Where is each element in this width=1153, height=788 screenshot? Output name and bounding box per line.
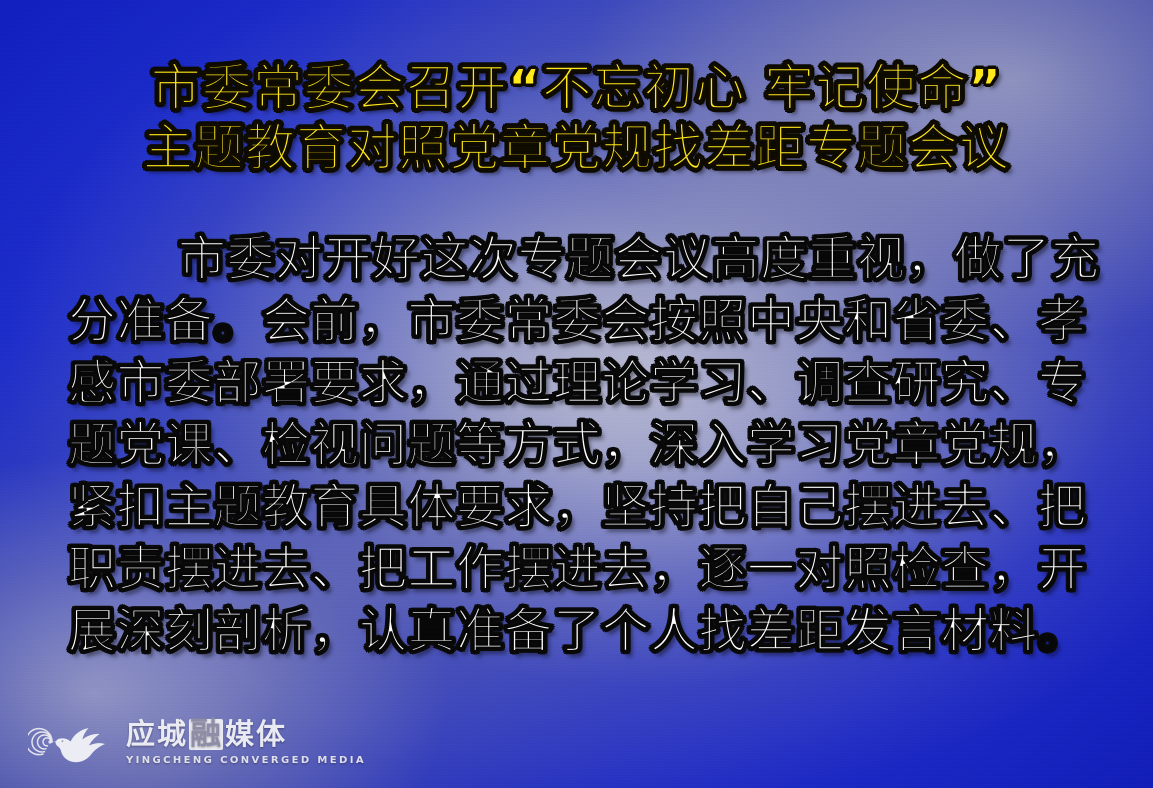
logo-chinese-name: 应 城 融 媒 体: [126, 719, 366, 750]
logo-char-ying: 应: [126, 720, 156, 749]
body-paragraph: 市委对开好这次专题会议高度重视，做了充 分准备。会前，市委常委会按照中央和省委、…: [68, 228, 1088, 662]
logo-char-cheng: 城: [157, 720, 187, 749]
body-line: 感市委部署要求，通过理论学习、调查研究、专: [68, 352, 1088, 414]
station-logo: 应 城 融 媒 体 YINGCHENG CONVERGED MEDIA: [28, 714, 366, 770]
body-line: 紧扣主题教育具体要求，坚持把自己摆进去、把: [68, 476, 1088, 538]
logo-char-rong: 融: [189, 719, 223, 750]
body-line: 分准备。会前，市委常委会按照中央和省委、孝: [68, 290, 1088, 352]
body-line: 职责摆进去、把工作摆进去，逐一对照检查，开: [68, 538, 1088, 600]
body-line: 题党课、检视问题等方式，深入学习党章党规，: [68, 414, 1088, 476]
logo-wordmark: 应 城 融 媒 体 YINGCHENG CONVERGED MEDIA: [126, 719, 366, 766]
logo-char-ti: 体: [256, 720, 286, 749]
body-line: 市委对开好这次专题会议高度重视，做了充: [68, 228, 1088, 290]
headline-line-2: 主题教育对照党章党规找差距专题会议: [0, 118, 1153, 178]
headline-line-1: 市委常委会召开“不忘初心 牢记使命”: [0, 58, 1153, 118]
dove-fingerprint-icon: [28, 714, 116, 770]
logo-char-mei: 媒: [225, 720, 255, 749]
logo-english-name: YINGCHENG CONVERGED MEDIA: [126, 755, 366, 766]
body-line: 展深刻剖析，认真准备了个人找差距发言材料。: [68, 600, 1088, 662]
headline-title: 市委常委会召开“不忘初心 牢记使命” 主题教育对照党章党规找差距专题会议: [0, 58, 1153, 178]
broadcast-news-frame: 市委常委会召开“不忘初心 牢记使命” 主题教育对照党章党规找差距专题会议 市委对…: [0, 0, 1153, 788]
